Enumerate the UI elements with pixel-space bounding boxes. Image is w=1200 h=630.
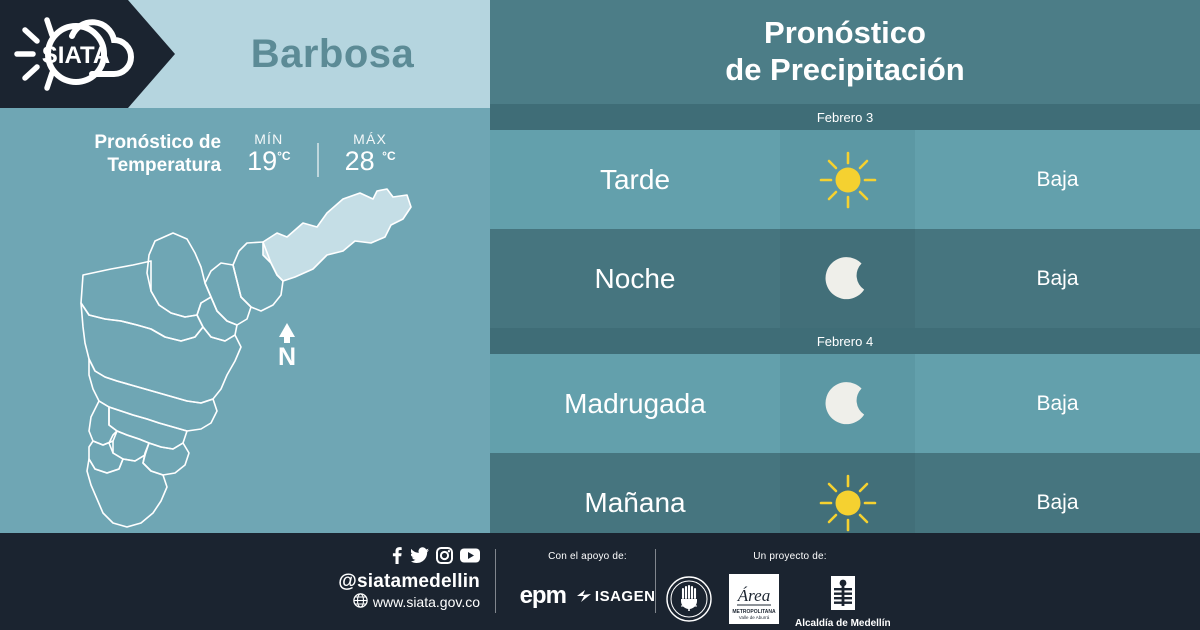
project-label: Un proyecto de:	[700, 551, 880, 562]
map-region-barbosa	[263, 189, 411, 281]
isagen-logo: ISAGEN	[576, 588, 656, 605]
project-block: Un proyecto de:	[700, 551, 880, 562]
epm-logo: epm	[520, 582, 566, 610]
sun-icon	[780, 130, 915, 229]
udea-seal-icon	[665, 575, 713, 628]
precipitation-level: Baja	[915, 229, 1200, 328]
alcaldia-medellin-logo: Alcaldía de Medellín	[795, 575, 891, 629]
aburra-valley-map: N	[55, 185, 445, 533]
social-block: @siatamedellin www.siata.gov.co	[330, 547, 480, 611]
precipitation-title: Pronóstico de Precipitación	[490, 0, 1200, 104]
temperature-title-line1: Pronóstico de	[94, 131, 221, 154]
instagram-icon[interactable]	[436, 547, 453, 569]
moon-icon	[780, 354, 915, 453]
svg-text:N: N	[278, 343, 296, 371]
temperature-min: MÍN 19°C	[247, 131, 291, 177]
temperature-max-label: MÁX	[345, 131, 396, 147]
temperature-max-value: 28 °C	[345, 147, 396, 177]
precipitation-title-line2: de Precipitación	[725, 52, 964, 89]
footer: @siatamedellin www.siata.gov.co Con el a…	[0, 533, 1200, 630]
temperature-title-line2: Temperatura	[94, 154, 221, 177]
forecast-row[interactable]: Noche Baja	[490, 229, 1200, 328]
facebook-icon[interactable]	[389, 547, 404, 569]
support-label: Con el apoyo de:	[510, 551, 665, 562]
forecast-row[interactable]: Tarde Baja	[490, 130, 1200, 229]
support-block: Con el apoyo de: epm ISAGEN	[510, 551, 665, 610]
footer-divider-1	[495, 549, 496, 613]
twitter-icon[interactable]	[411, 547, 429, 569]
forecast-period: Madrugada	[490, 354, 780, 453]
temperature-summary: Pronóstico de Temperatura MÍN 19°C MÁX 2…	[0, 118, 490, 190]
footer-divider-2	[655, 549, 656, 613]
website-url: www.siata.gov.co	[373, 594, 480, 610]
forecast-period: Tarde	[490, 130, 780, 229]
temperature-title: Pronóstico de Temperatura	[94, 131, 221, 177]
isagen-text: ISAGEN	[595, 588, 656, 605]
isagen-mark-icon	[576, 589, 592, 603]
precipitation-level: Baja	[915, 354, 1200, 453]
left-panel: SIATA Barbosa Pronóstico de Temperatura …	[0, 0, 490, 533]
temperature-max: MÁX 28 °C	[345, 131, 396, 177]
svg-text:Área: Área	[737, 586, 770, 605]
precipitation-panel: Pronóstico de Precipitación Febrero 3 Ta…	[490, 0, 1200, 533]
social-handle[interactable]: @siatamedellin	[330, 571, 480, 593]
sun-cloud-icon: SIATA	[14, 16, 161, 97]
support-logos: epm ISAGEN	[510, 582, 665, 610]
area-metropolitana-logo: Área METROPOLITANA Valle de Aburrá	[727, 573, 781, 630]
precipitation-title-line1: Pronóstico	[764, 15, 926, 52]
date-band-day2: Febrero 4	[490, 328, 1200, 354]
globe-icon	[353, 593, 368, 611]
page-title: Barbosa	[175, 0, 490, 108]
date-band-day1: Febrero 3	[490, 104, 1200, 130]
temperature-min-value: 19°C	[247, 147, 291, 177]
temperature-divider	[317, 143, 319, 177]
social-icons	[330, 547, 480, 569]
north-arrow-icon: N	[278, 323, 296, 371]
website-row[interactable]: www.siata.gov.co	[330, 593, 480, 611]
project-logos: Área METROPOLITANA Valle de Aburrá Alcal…	[665, 573, 891, 630]
svg-text:SIATA: SIATA	[42, 42, 110, 69]
svg-text:Valle de Aburrá: Valle de Aburrá	[739, 615, 770, 620]
precipitation-level: Baja	[915, 130, 1200, 229]
temperature-min-label: MÍN	[247, 131, 291, 147]
forecast-period: Noche	[490, 229, 780, 328]
alcaldia-text: Alcaldía de Medellín	[795, 618, 891, 629]
moon-icon	[780, 229, 915, 328]
youtube-icon[interactable]	[460, 548, 480, 568]
forecast-row[interactable]: Madrugada Baja	[490, 354, 1200, 453]
